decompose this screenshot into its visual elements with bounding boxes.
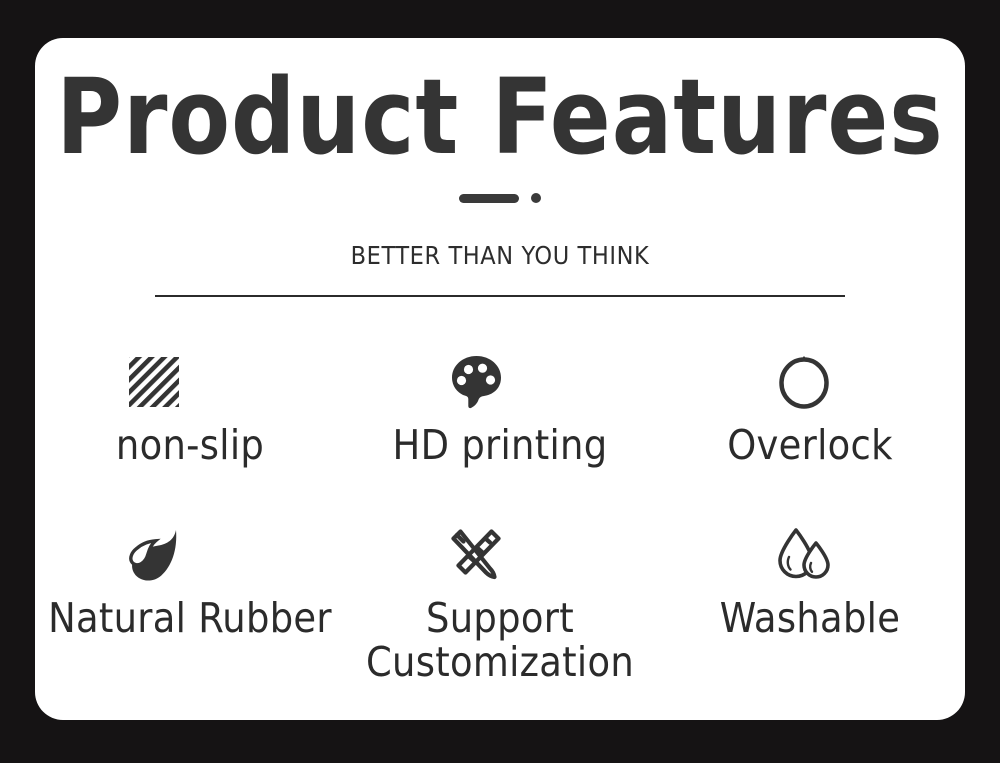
feature-label: non-slip: [116, 424, 264, 467]
page-title: Product Features: [54, 64, 947, 170]
feature-item-washable: Washable: [655, 521, 965, 684]
stitched-ring-icon: [777, 348, 831, 410]
pencil-ruler-icon: [447, 521, 505, 583]
horizontal-rule: [155, 295, 845, 297]
feature-grid: non-slip HD printing: [35, 348, 965, 684]
paint-palette-icon: [447, 348, 505, 410]
poster-canvas: Product Features BETTER THAN YOU THINK: [0, 0, 1000, 763]
feature-label: Washable: [720, 597, 900, 640]
feature-item-non-slip: non-slip: [35, 348, 345, 467]
divider-dot-icon: [531, 193, 541, 203]
feature-label: Support Customization: [350, 597, 650, 684]
title-divider: [35, 193, 965, 203]
feature-label: HD printing: [393, 424, 608, 467]
feature-item-hd-printing: HD printing: [345, 348, 655, 467]
feature-item-natural-rubber: Natural Rubber: [35, 521, 345, 684]
feature-item-overlock: Overlock: [655, 348, 965, 467]
rubber-leaf-icon: [124, 521, 184, 583]
feature-item-support-customization: Support Customization: [345, 521, 655, 684]
feature-card: Product Features BETTER THAN YOU THINK: [35, 38, 965, 720]
water-droplets-icon: [776, 521, 832, 583]
hatched-square-icon: [126, 348, 182, 410]
page-subtitle: BETTER THAN YOU THINK: [35, 241, 965, 270]
feature-label: Natural Rubber: [48, 597, 332, 640]
divider-bar-icon: [459, 194, 519, 203]
feature-label: Overlock: [727, 424, 893, 467]
